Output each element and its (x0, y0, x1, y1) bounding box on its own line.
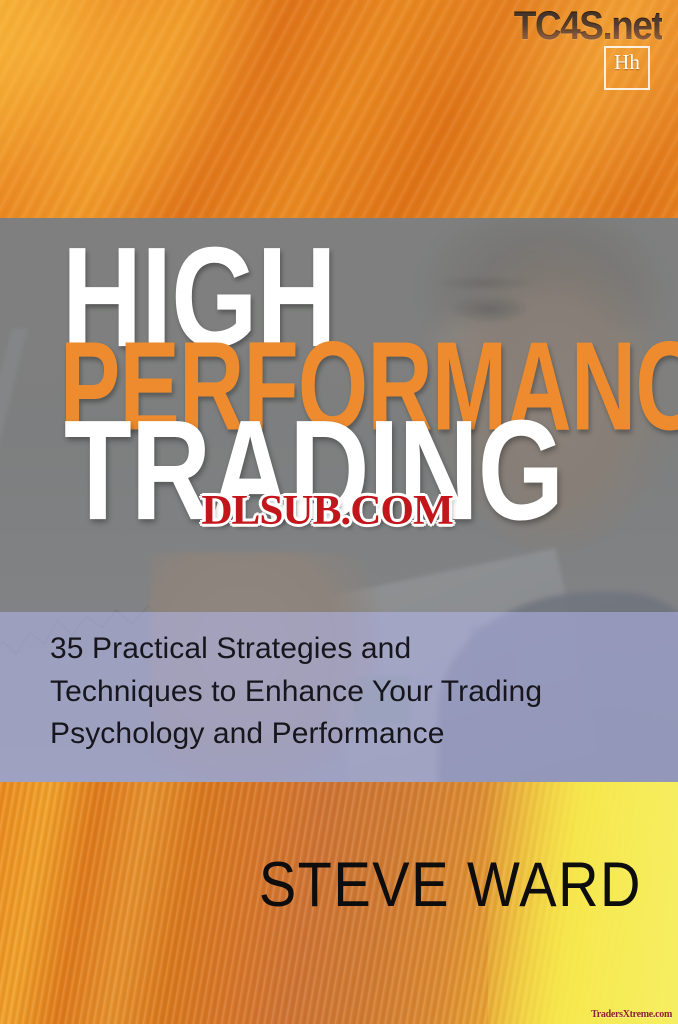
subtitle-line-2: Techniques to Enhance Your Trading (50, 671, 630, 714)
hh-badge-label: Hh (614, 50, 640, 75)
tc4s-watermark: TC4S.net (514, 4, 662, 49)
subtitle-line-3: Psychology and Performance (50, 713, 630, 756)
subtitle-line-1: 35 Practical Strategies and (50, 628, 630, 671)
subtitle: 35 Practical Strategies and Techniques t… (50, 628, 630, 756)
hh-badge-box: Hh (604, 46, 650, 90)
book-cover: TC4S.net Hh HIGH PERFORMANCE TRADING DLS… (0, 0, 678, 1024)
tradersxtreme-watermark: TradersXtreme.com (591, 1009, 672, 1020)
title-block: HIGH PERFORMANCE TRADING (62, 236, 662, 522)
dlsub-watermark: DLSUB.COM (201, 487, 453, 535)
author-name: STEVE WARD (259, 848, 642, 921)
